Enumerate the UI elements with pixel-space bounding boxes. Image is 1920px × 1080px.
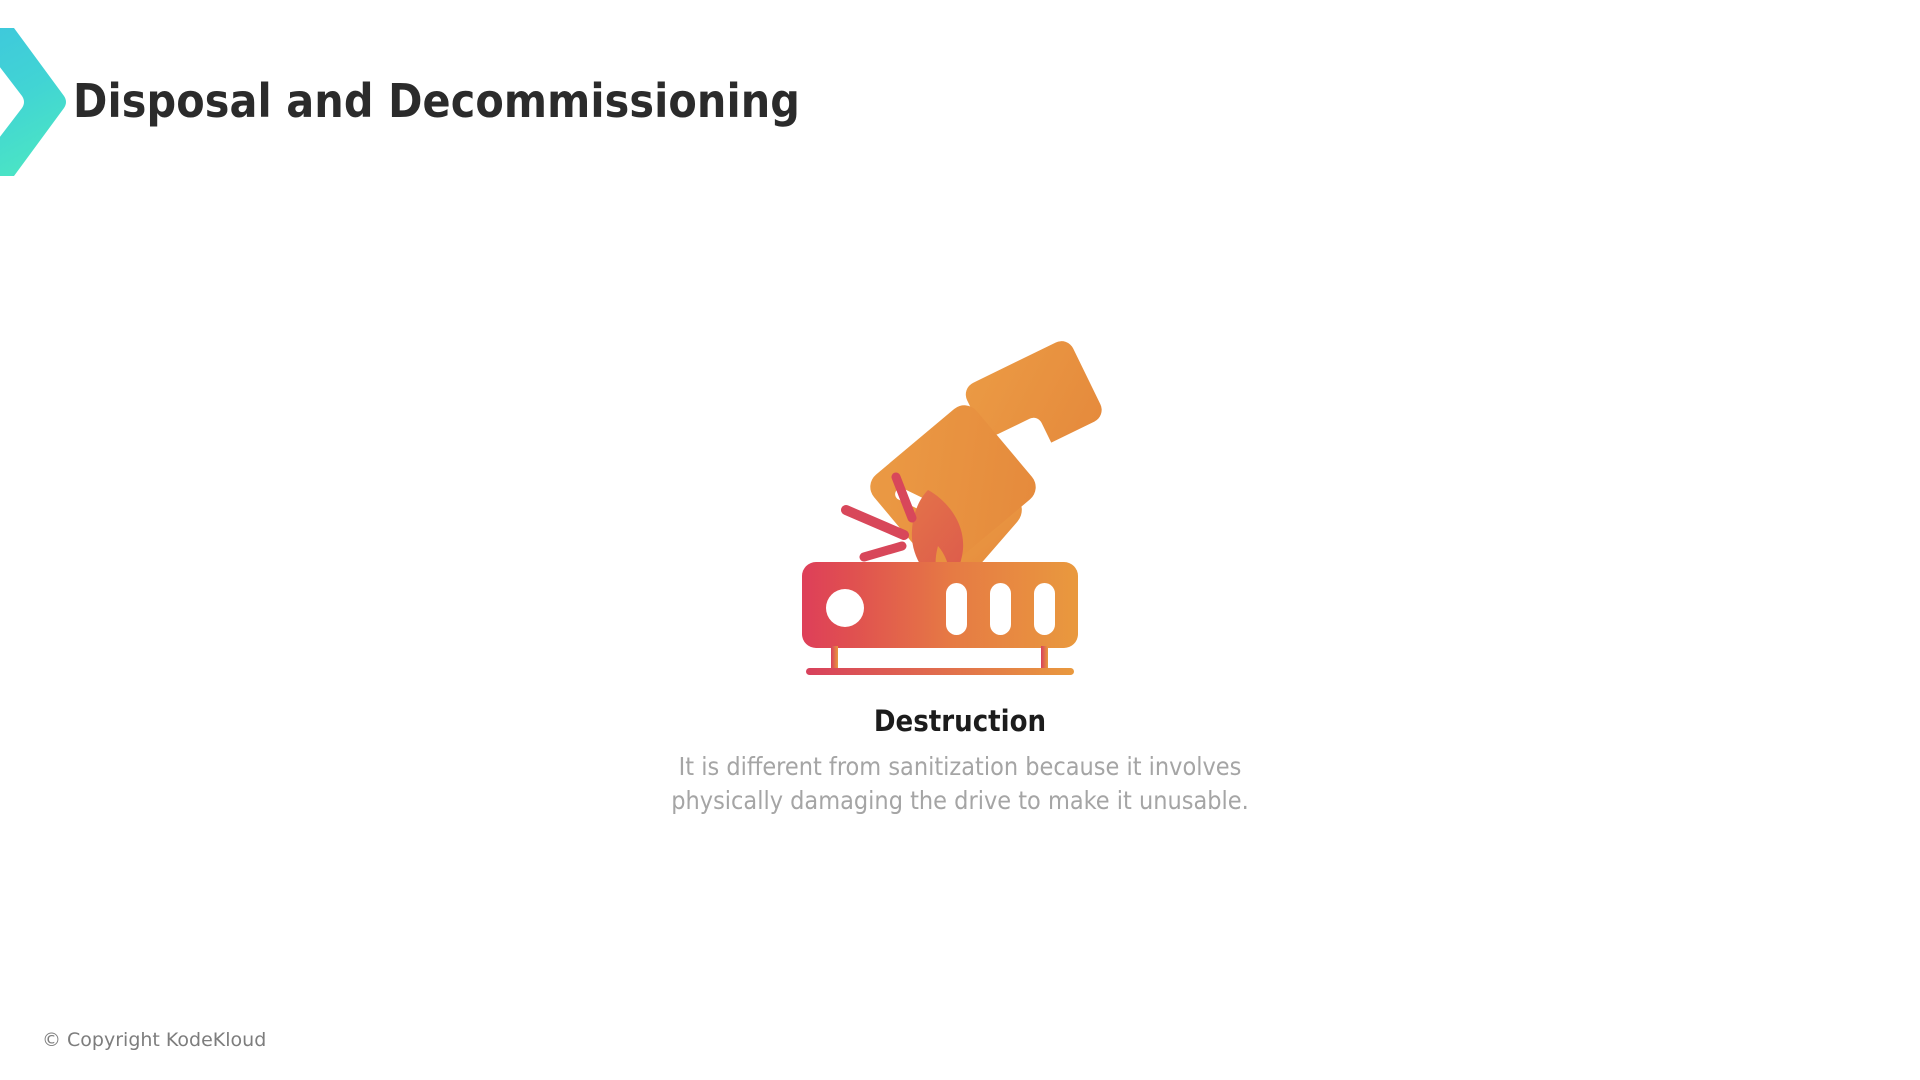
- page-title: Disposal and Decommissioning: [73, 78, 800, 124]
- item-description-line-1: It is different from sanitization becaus…: [679, 752, 1242, 781]
- item-description: It is different from sanitization becaus…: [620, 750, 1300, 818]
- chevron-right-accent-icon: [0, 26, 66, 178]
- destruction-content-block: Destruction It is different from sanitiz…: [0, 340, 1920, 818]
- server-power-indicator: [826, 589, 864, 627]
- item-description-line-2: physically damaging the drive to make it…: [671, 786, 1249, 815]
- footer-copyright: © Copyright KodeKloud: [42, 1029, 266, 1051]
- item-title: Destruction: [874, 706, 1046, 738]
- slide-canvas: Disposal and Decommissioning: [0, 0, 1920, 1080]
- gavel-smashing-server-icon: [788, 340, 1133, 692]
